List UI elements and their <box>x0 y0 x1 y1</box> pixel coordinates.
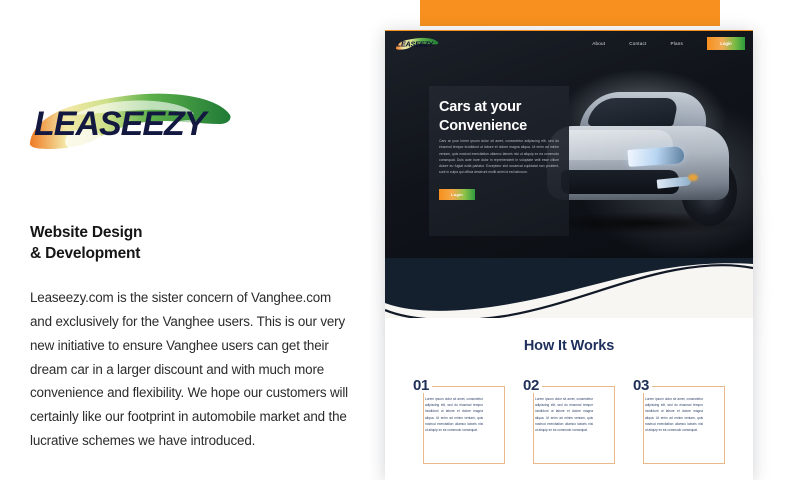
navbar-leaseezy-logo-icon[interactable]: LEASEEZY <box>393 34 441 52</box>
car-side-indicator <box>688 174 698 181</box>
card-text: Lorem ipsum dolor sit amet, consectetur … <box>535 396 593 433</box>
nav-link-plans[interactable]: Plans <box>671 41 684 46</box>
brand-wordmark: LEASEEZY <box>34 105 210 143</box>
card-number: 01 <box>413 378 432 393</box>
leaseezy-car-logo-icon: LEASEEZY <box>22 75 237 160</box>
description-paragraph: Leaseezy.com is the sister concern of Va… <box>30 286 350 453</box>
how-it-works-title: How It Works <box>385 338 753 354</box>
promo-banner: Leaseezy <box>420 0 720 26</box>
navbar-login-button[interactable]: Login <box>707 37 745 50</box>
hero-content-card: Cars at your Convenience Cars at your lo… <box>429 86 569 236</box>
left-info-panel: LEASEEZY Website Design & Development Le… <box>0 0 385 480</box>
card-number: 03 <box>633 378 652 393</box>
card-text: Lorem ipsum dolor sit amet, consectetur … <box>425 396 483 433</box>
how-it-works-cards: 01 Lorem ipsum dolor sit amet, consectet… <box>413 378 725 464</box>
website-page-frame: LEASEEZY About Contact Plans Login Cars … <box>385 30 753 480</box>
hero-title-line-2: Convenience <box>439 118 527 134</box>
hero-section: LEASEEZY About Contact Plans Login Cars … <box>385 30 753 280</box>
website-mockup-stage: Leaseezy <box>370 0 800 480</box>
site-navbar: LEASEEZY About Contact Plans Login <box>385 30 753 55</box>
headline-line-1: Website Design <box>30 222 330 243</box>
nav-link-about[interactable]: About <box>592 41 605 46</box>
card-number: 02 <box>523 378 542 393</box>
card-text: Lorem ipsum dolor sit amet, consectetur … <box>645 396 703 433</box>
hero-title-line-1: Cars at your <box>439 99 521 115</box>
hero-body-text: Cars at your lorem ipsum dolor sit amet,… <box>439 138 559 176</box>
promo-banner-text: Leaseezy <box>535 0 606 26</box>
headline-line-2: & Development <box>30 243 330 264</box>
hero-title: Cars at your Convenience <box>439 98 561 135</box>
navbar-links: About Contact Plans Login <box>592 37 753 50</box>
hero-login-button[interactable]: Login <box>439 189 475 200</box>
how-it-works-card[interactable]: 01 Lorem ipsum dolor sit amet, consectet… <box>413 378 505 464</box>
svg-text:LEASEEZY: LEASEEZY <box>397 40 435 49</box>
how-it-works-card[interactable]: 02 Lorem ipsum dolor sit amet, consectet… <box>523 378 615 464</box>
wave-divider <box>385 258 753 322</box>
how-it-works-section: How It Works 01 Lorem ipsum dolor sit am… <box>385 318 753 480</box>
page-title: Website Design & Development <box>30 222 330 264</box>
how-it-works-card[interactable]: 03 Lorem ipsum dolor sit amet, consectet… <box>633 378 725 464</box>
nav-link-contact[interactable]: Contact <box>629 41 646 46</box>
car-windshield <box>587 98 679 126</box>
